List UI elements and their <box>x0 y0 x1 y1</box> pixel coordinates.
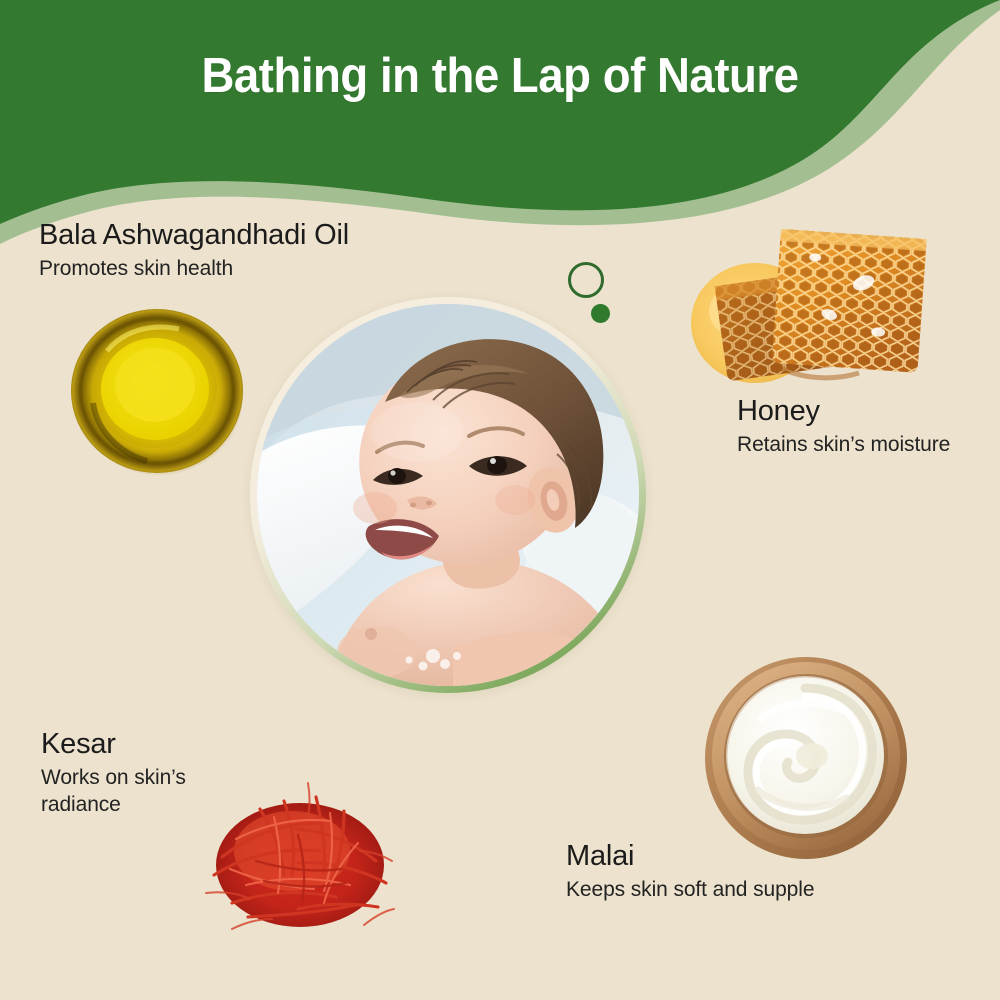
page-title: Bathing in the Lap of Nature <box>35 48 965 104</box>
ingredient-label-bala-ashwagandhadi-oil: Bala Ashwagandhadi Oil Promotes skin hea… <box>39 219 349 283</box>
center-photo <box>250 297 646 693</box>
poster-canvas: Bathing in the Lap of Nature <box>0 0 1000 1000</box>
honeycomb-image <box>683 215 990 400</box>
ingredient-name: Bala Ashwagandhadi Oil <box>39 219 349 252</box>
green-ring-icon <box>568 262 604 298</box>
ingredient-desc: Works on skin’s radiance <box>41 765 251 819</box>
ingredient-desc: Retains skin’s moisture <box>737 432 950 459</box>
cream-bowl-image <box>700 650 912 862</box>
ingredient-label-honey: Honey Retains skin’s moisture <box>737 395 950 459</box>
ingredient-desc: Promotes skin health <box>39 256 349 283</box>
oil-bowl-image <box>67 303 247 475</box>
baby-photo-image <box>257 304 639 686</box>
ingredient-desc: Keeps skin soft and supple <box>566 877 814 904</box>
ingredient-label-malai: Malai Keeps skin soft and supple <box>566 840 814 904</box>
ingredient-name: Malai <box>566 840 814 873</box>
ingredient-name: Honey <box>737 395 950 428</box>
ingredient-name: Kesar <box>41 728 251 761</box>
ingredient-label-kesar: Kesar Works on skin’s radiance <box>41 728 251 819</box>
